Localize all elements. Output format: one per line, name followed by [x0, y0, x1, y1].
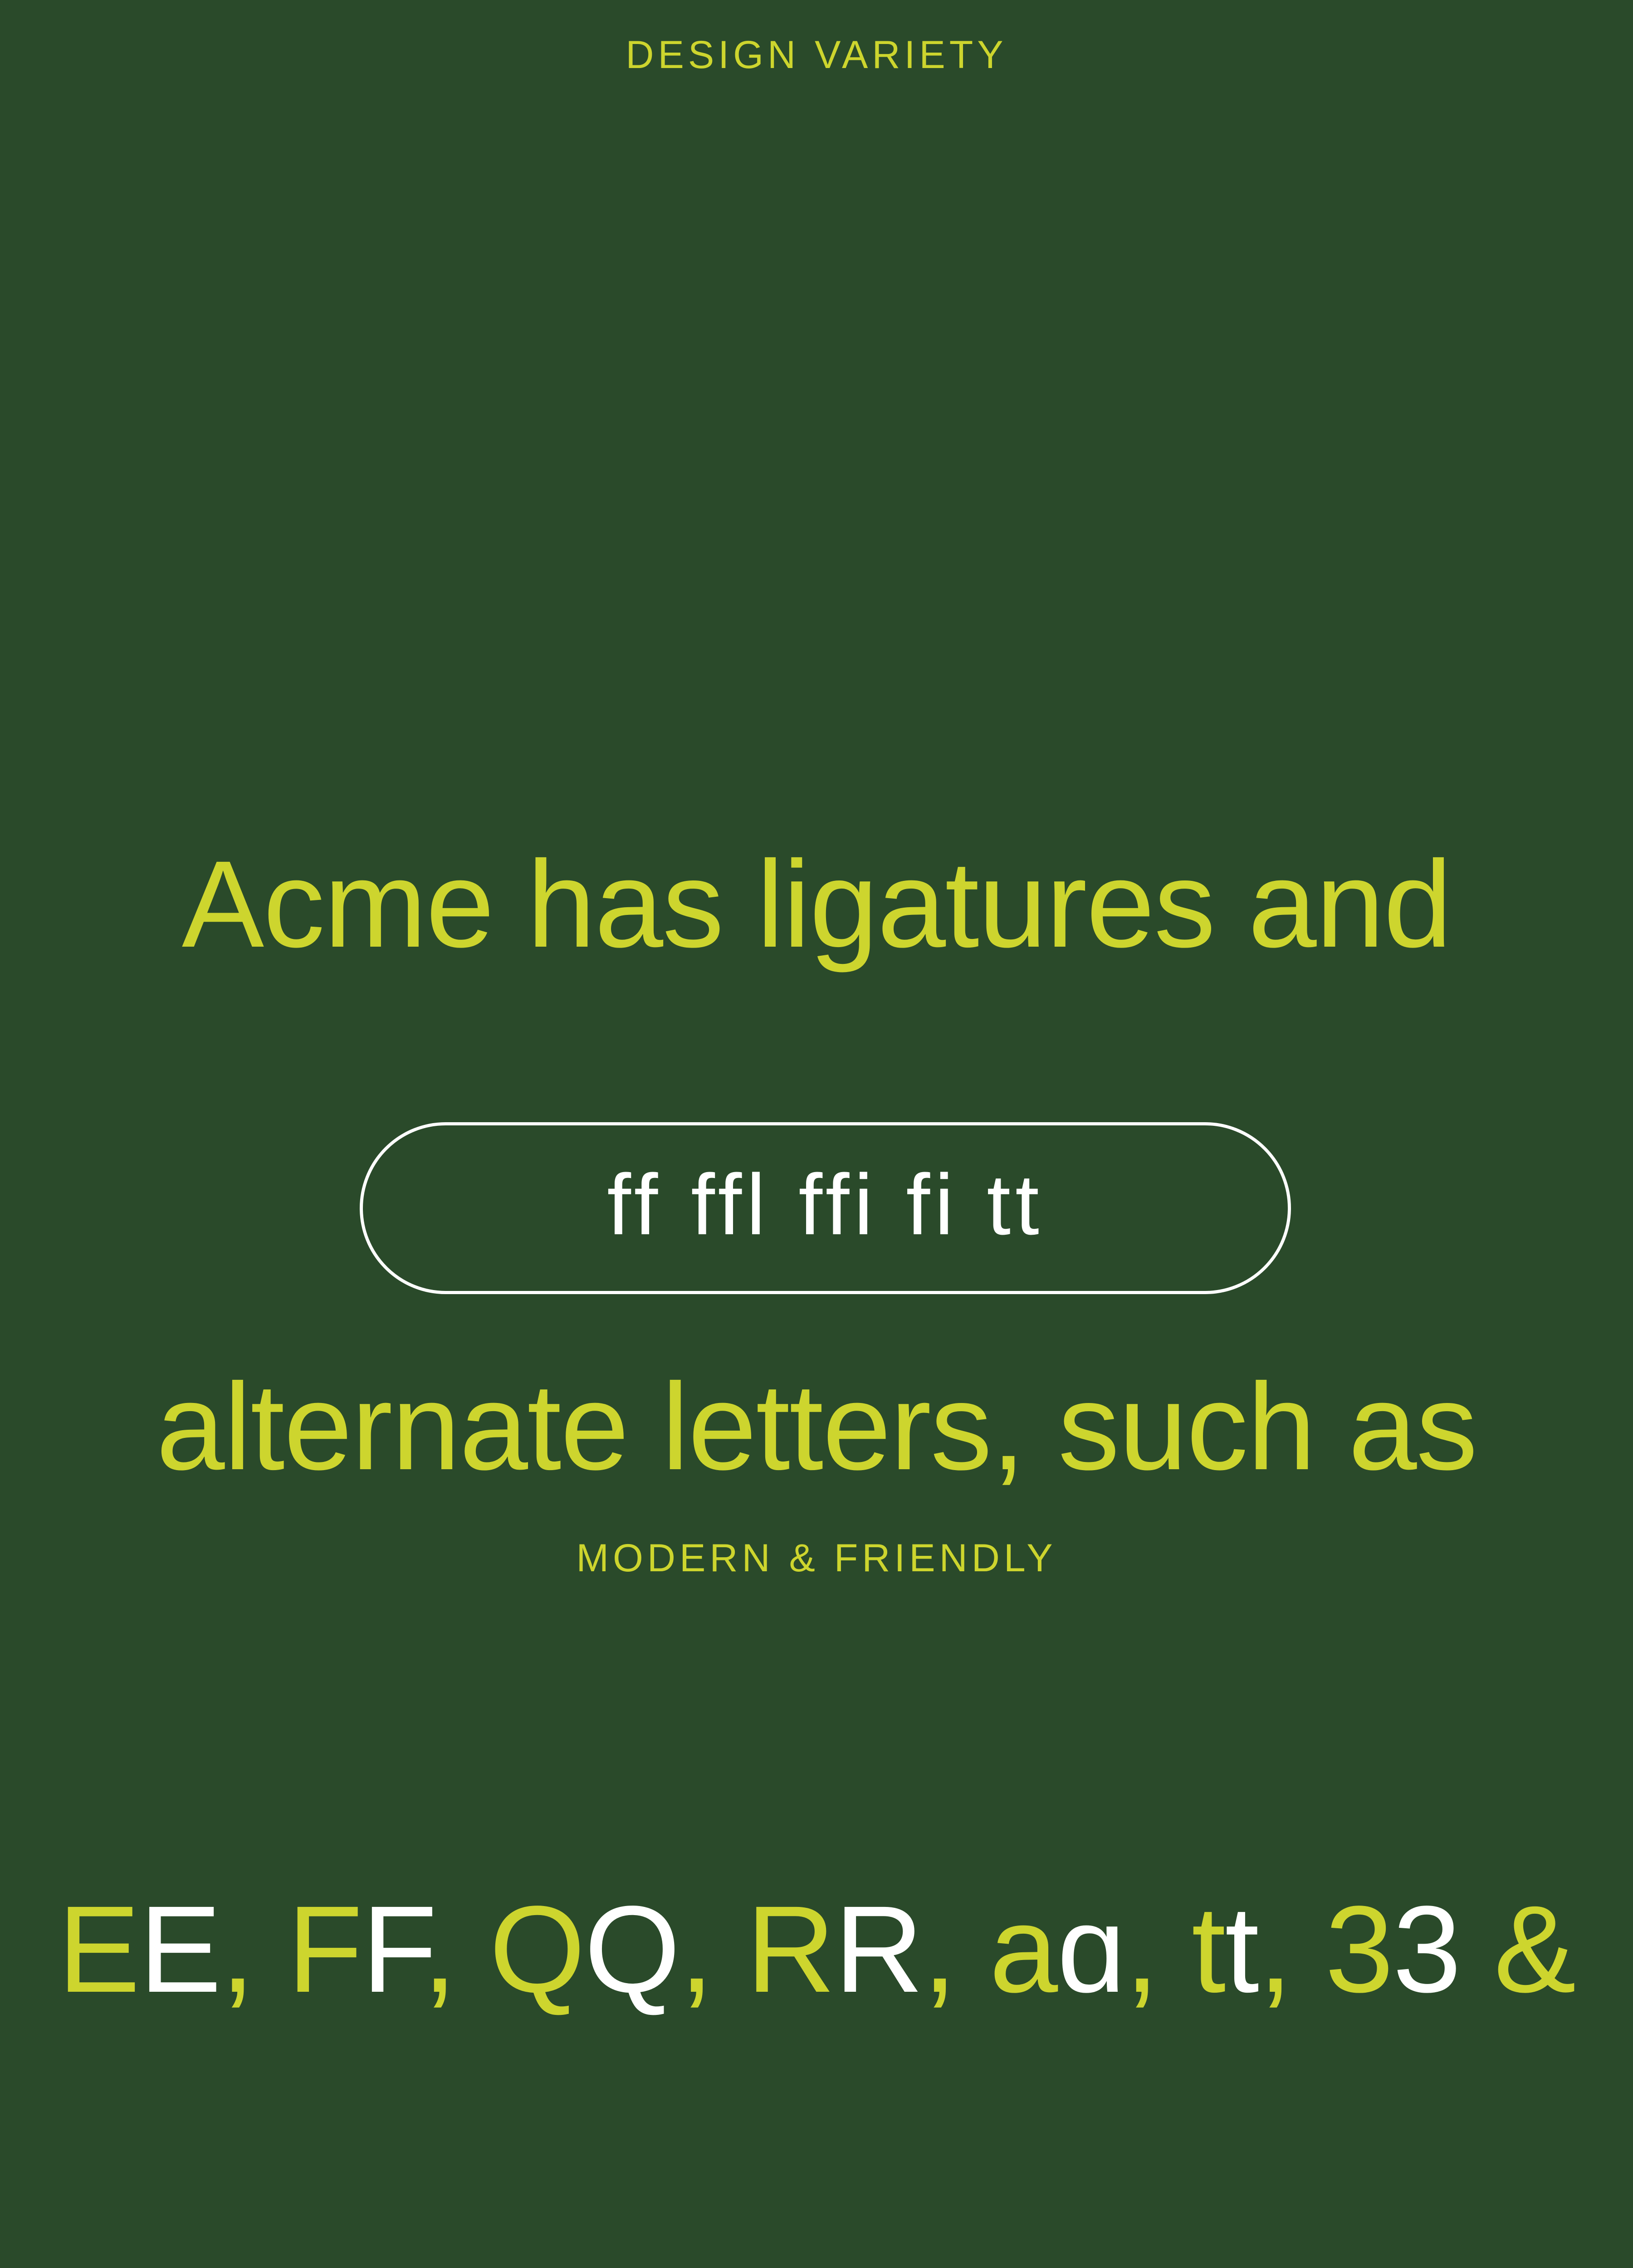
- headline-line-3-glyph-11: ,: [923, 1880, 989, 2018]
- ligature-pill-button[interactable]: ff ffl ffi fi tt: [360, 1122, 1291, 1294]
- headline-line-1: Acme has ligatures and: [0, 839, 1633, 969]
- headline-line-2: alternate letters, such as: [0, 1361, 1633, 1492]
- headline-line-3-glyph-2: ,: [220, 1880, 287, 2018]
- headline-line-3-glyph-3: F: [287, 1880, 362, 2018]
- headline-line-3-glyph-19: 3: [1393, 1880, 1460, 2018]
- header-eyebrow-label: DESIGN VARIETY: [0, 35, 1633, 74]
- headline-line-3-glyph-9: R: [746, 1880, 834, 2018]
- headline-line-3-glyph-7: Q: [584, 1880, 680, 2018]
- headline-line-3-glyph-8: ,: [680, 1880, 746, 2018]
- headline-line-3-glyph-5: ,: [423, 1880, 489, 2018]
- headline-line-3-glyph-15: t: [1192, 1880, 1225, 2018]
- headline-line-3-glyph-17: ,: [1258, 1880, 1325, 2018]
- headline-line-3-glyph-0: E: [58, 1880, 139, 2018]
- headline-line-3-glyph-20: &: [1461, 1880, 1575, 2018]
- headline-line-3-glyph-13: ɑ: [1057, 1880, 1125, 2018]
- headline-block: Acme has ligatures and alternate letters…: [0, 447, 1633, 2268]
- headline-line-3-glyph-14: ,: [1125, 1880, 1192, 2018]
- headline-line-3-glyph-16: t: [1225, 1880, 1258, 2018]
- headline-line-3-glyph-6: Q: [489, 1880, 585, 2018]
- headline-line-3-glyph-1: E: [139, 1880, 220, 2018]
- poster-canvas: DESIGN VARIETY Acme has ligatures and al…: [0, 0, 1633, 1633]
- ligature-sample-text: ff ffl ffi fi tt: [607, 1162, 1044, 1248]
- footer-eyebrow-label: MODERN & FRIENDLY: [0, 1539, 1633, 1578]
- headline-line-3-glyph-10: R: [834, 1880, 922, 2018]
- headline-line-3-glyph-18: 3: [1325, 1880, 1393, 2018]
- headline-line-3: EE, FF, QQ, RR, aɑ, tt, 33 &: [0, 1884, 1633, 2014]
- headline-line-3-glyph-12: a: [989, 1880, 1057, 2018]
- headline-line-3-glyph-4: F: [362, 1880, 423, 2018]
